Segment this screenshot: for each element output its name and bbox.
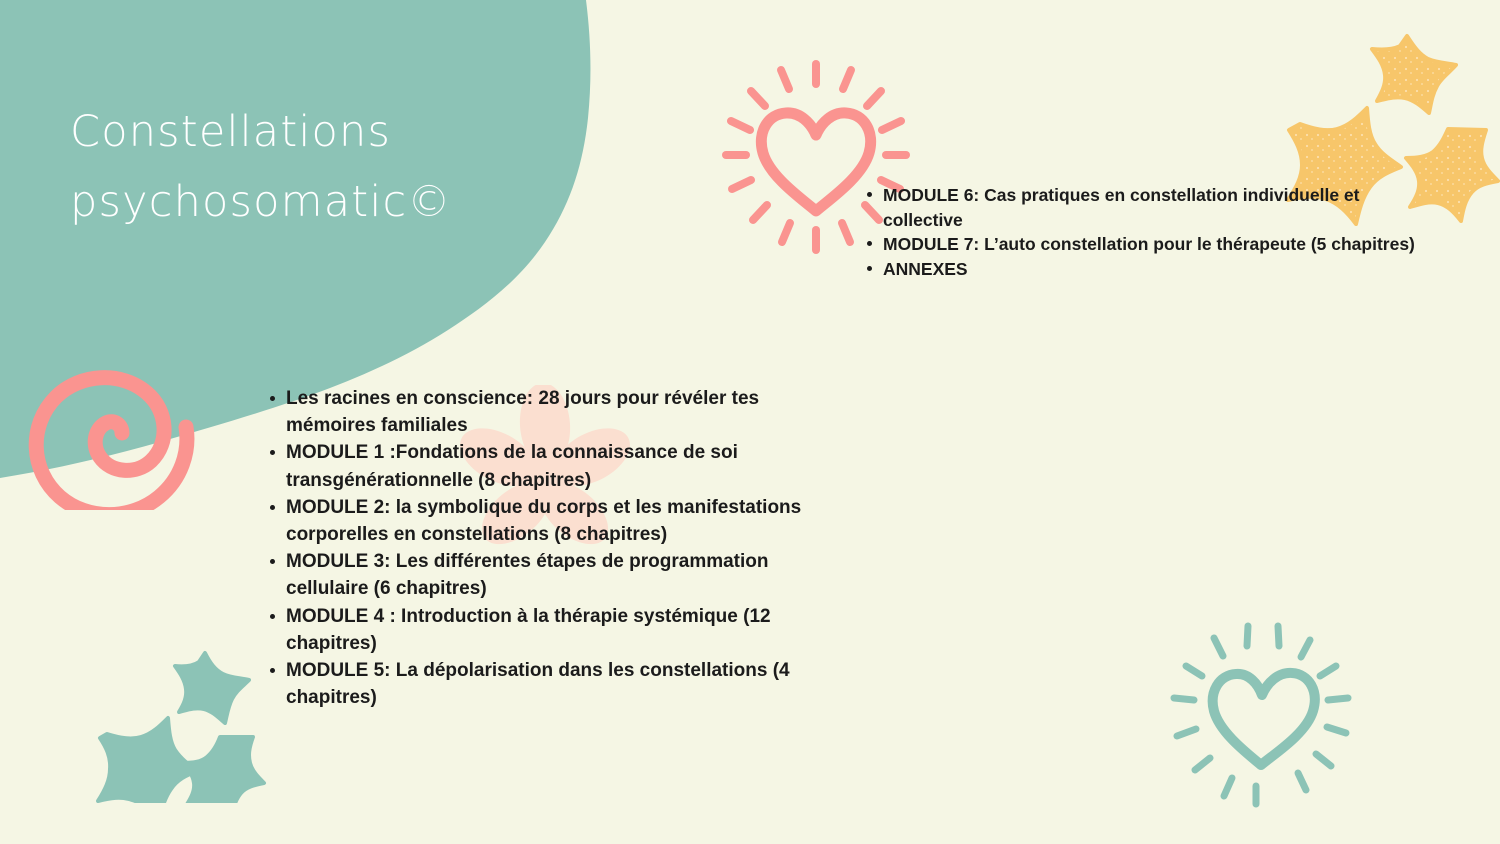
slide-canvas: Constellations psychosomatic© MODULE 6: …: [0, 0, 1500, 844]
list-item: MODULE 4 : Introduction à la thérapie sy…: [269, 603, 829, 657]
list-item: ANNEXES: [866, 257, 1438, 282]
title-line-1: Constellations: [70, 97, 530, 167]
list-item: MODULE 2: la symbolique du corps et les …: [269, 494, 829, 548]
module-list-top: MODULE 6: Cas pratiques en constellation…: [866, 183, 1438, 281]
title-line-2: psychosomatic©: [70, 167, 530, 237]
slide-title: Constellations psychosomatic©: [70, 97, 530, 237]
list-item: MODULE 7: L’auto constellation pour le t…: [866, 232, 1438, 257]
teal-heart-icon: [1168, 608, 1368, 820]
list-item: MODULE 1 :Fondations de la connaissance …: [269, 439, 829, 493]
list-item: MODULE 6: Cas pratiques en constellation…: [866, 183, 1438, 232]
list-item: MODULE 3: Les différentes étapes de prog…: [269, 548, 829, 602]
teal-stars-icon: [93, 618, 298, 803]
list-item: MODULE 5: La dépolarisation dans les con…: [269, 657, 829, 711]
module-list-main: Les racines en conscience: 28 jours pour…: [269, 385, 829, 711]
list-item: Les racines en conscience: 28 jours pour…: [269, 385, 829, 439]
pink-spiral-icon: [18, 345, 213, 510]
